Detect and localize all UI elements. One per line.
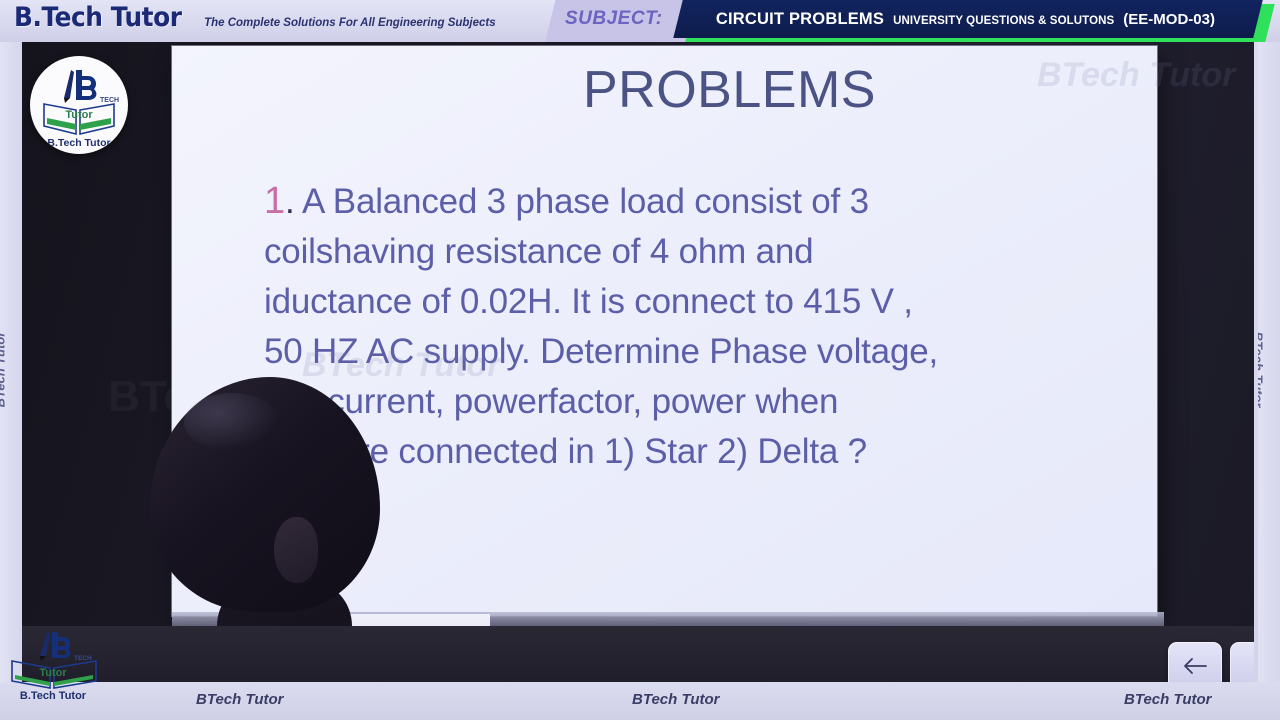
top-banner: B.Tech Tutor The Complete Solutions For … — [0, 0, 1280, 42]
slide-line-3: iductance of 0.02H. It is connect to 415… — [264, 277, 1154, 327]
svg-text:Tutor: Tutor — [39, 667, 67, 679]
left-margin-watermark: BTech Tutor — [0, 332, 7, 408]
lecture-video-area[interactable]: Tutor Tutor BTech Tutor PROBLEMS 1. A Ba… — [22, 42, 1254, 682]
subject-module-code: (EE-MOD-03) — [1123, 11, 1215, 28]
brand-tagline: The Complete Solutions For All Engineeri… — [204, 17, 496, 29]
desk-foreground — [22, 626, 1254, 682]
logo-badge-circle: TECH Tutor B.Tech Tutor — [30, 56, 128, 154]
subject-banner: CIRCUIT PROBLEMS UNIVERSITY QUESTIONS & … — [673, 0, 1262, 38]
slide-line-1-text: A Balanced 3 phase load consist of 3 — [294, 182, 868, 221]
subject-label: SUBJECT: — [565, 8, 663, 30]
bottom-watermark-2: BTech Tutor — [632, 691, 720, 708]
slide-line-1: 1. A Balanced 3 phase load consist of 3 — [264, 176, 1154, 227]
slide-line-4: 50 HZ AC supply. Determine Phase voltage… — [264, 327, 1154, 377]
bottom-watermark-1: BTech Tutor — [196, 691, 284, 708]
btech-tutor-corner-logo-icon: TECH Tutor B.Tech Tutor — [4, 628, 108, 702]
bottom-bar: BTech Tutor BTech Tutor BTech Tutor — [0, 682, 1280, 720]
right-margin-watermark: BTech Tutor — [1258, 332, 1265, 408]
left-margin-strip: BTech Tutor — [0, 42, 22, 682]
subject-subtitle: UNIVERSITY QUESTIONS & SOLUTONS — [893, 15, 1114, 27]
svg-text:TECH: TECH — [74, 655, 92, 662]
secondary-nav-button[interactable] — [1230, 642, 1254, 682]
svg-text:Tutor: Tutor — [65, 109, 93, 121]
slide-line-2: coilshaving resistance of 4 ohm and — [264, 227, 1154, 277]
slide-title: PROBLEMS — [172, 60, 1157, 120]
bottom-watermark-3: BTech Tutor — [1124, 691, 1212, 708]
svg-text:TECH: TECH — [100, 97, 119, 104]
arrow-left-icon — [1182, 657, 1208, 675]
brand-title: B.Tech Tutor — [14, 2, 181, 33]
brand-block: B.Tech Tutor The Complete Solutions For … — [14, 2, 496, 33]
question-number: 1 — [264, 180, 285, 222]
presenter-ear — [274, 517, 318, 583]
btech-tutor-logo-icon: TECH Tutor B.Tech Tutor — [30, 56, 128, 154]
back-button[interactable] — [1168, 642, 1222, 682]
corner-logo: TECH Tutor B.Tech Tutor — [4, 628, 108, 702]
right-margin-strip: BTech Tutor — [1258, 42, 1280, 682]
screen-root: Tutor Tutor BTech Tutor PROBLEMS 1. A Ba… — [0, 0, 1280, 720]
presenter-hair-highlight — [184, 393, 280, 451]
subject-main-title: CIRCUIT PROBLEMS — [716, 10, 884, 29]
svg-text:B.Tech Tutor: B.Tech Tutor — [20, 690, 87, 702]
svg-text:B.Tech Tutor: B.Tech Tutor — [47, 137, 110, 149]
